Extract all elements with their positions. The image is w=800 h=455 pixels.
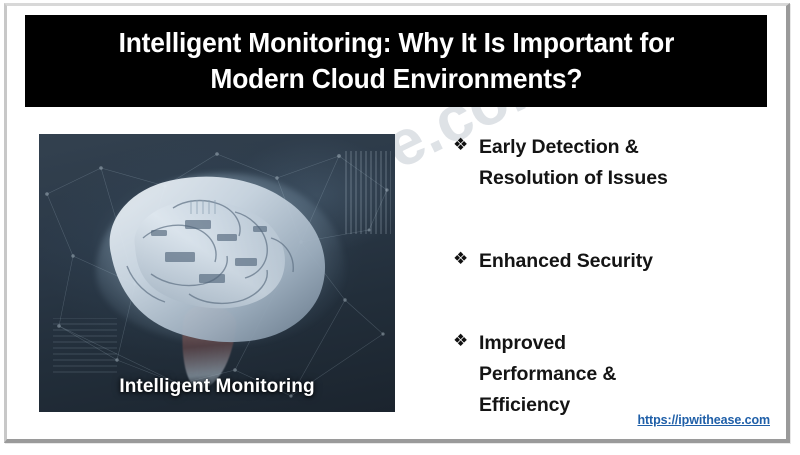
slide-frame: Intelligent Monitoring: Why It Is Import… <box>4 3 790 443</box>
list-item-label: Early Detection & Resolution of Issues <box>479 132 668 194</box>
page-title-line-1: Intelligent Monitoring: Why It Is Import… <box>118 25 674 61</box>
skyline-decor <box>345 151 391 234</box>
list-item-early-detection: ❖ Early Detection & Resolution of Issues <box>453 132 763 194</box>
page-title: Intelligent Monitoring: Why It Is Import… <box>118 25 674 98</box>
list-item-label: Improved Performance & Efficiency <box>479 328 616 420</box>
panel-decor <box>53 318 117 374</box>
title-banner: Intelligent Monitoring: Why It Is Import… <box>25 15 767 107</box>
diamond-bullet-icon: ❖ <box>453 328 479 356</box>
list-item-improved-performance: ❖ Improved Performance & Efficiency <box>453 328 763 420</box>
diamond-bullet-icon: ❖ <box>453 246 479 274</box>
page-title-line-2: Modern Cloud Environments? <box>118 61 674 97</box>
list-item-enhanced-security: ❖ Enhanced Security <box>453 246 763 277</box>
list-item-label: Enhanced Security <box>479 246 653 277</box>
slide-canvas: Intelligent Monitoring: Why It Is Import… <box>7 6 786 439</box>
figure-caption: Intelligent Monitoring <box>39 376 395 398</box>
diamond-bullet-icon: ❖ <box>453 132 479 160</box>
site-url-link[interactable]: https://ipwithease.com <box>637 413 770 427</box>
benefits-list: ❖ Early Detection & Resolution of Issues… <box>453 132 763 421</box>
figure-panel: Intelligent Monitoring <box>39 134 395 412</box>
